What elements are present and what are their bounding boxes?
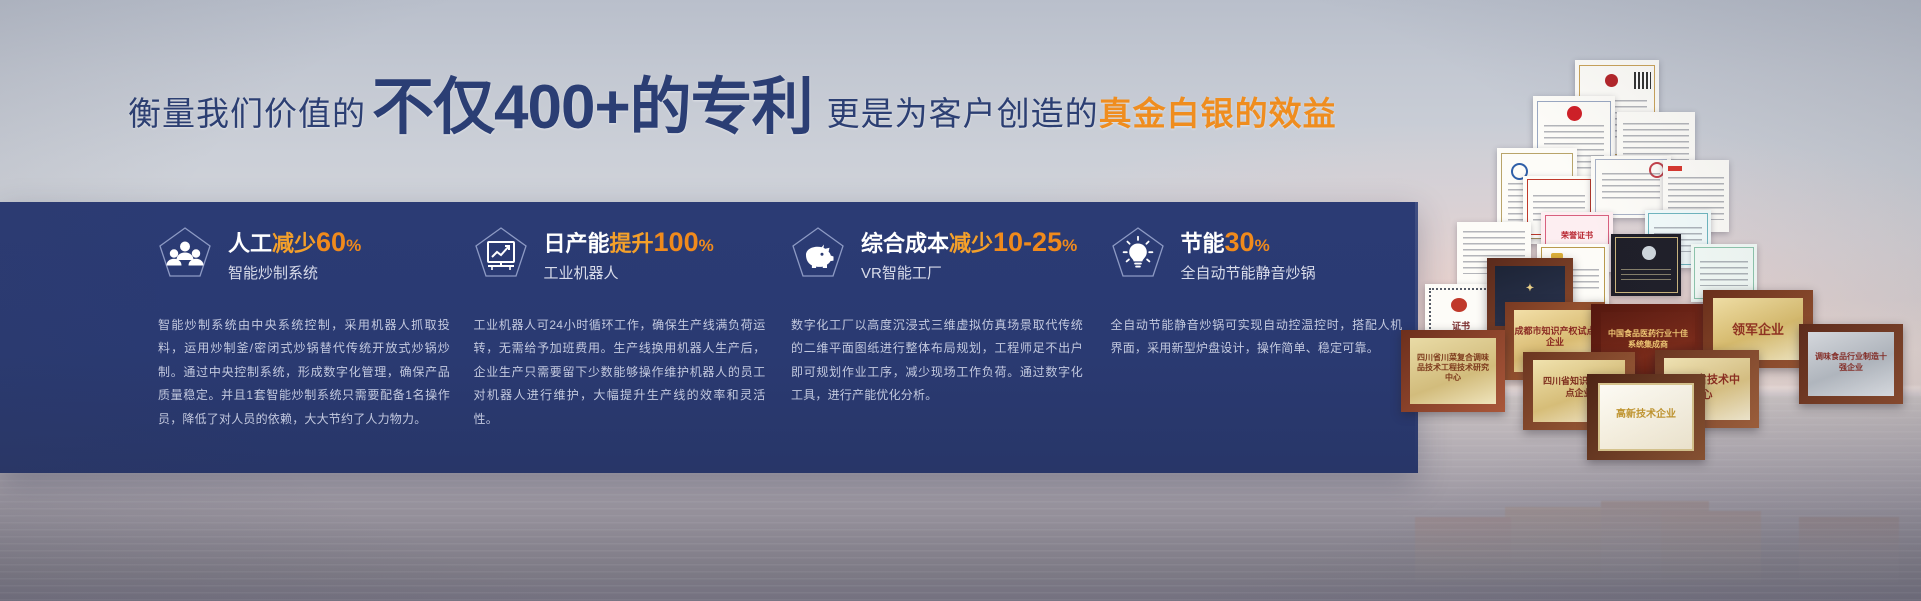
feature-subtitle: 全自动节能静音炒锅 [1181, 265, 1316, 283]
headline-middle: 更是为客户创造的 [827, 87, 1099, 135]
feature-title-highlight: 提升 [610, 231, 654, 256]
plaque-label: 领军企业 [1713, 319, 1803, 338]
feature-title-prefix: 综合成本 [861, 231, 949, 256]
feature-panel: 人工减少60% 智能炒制系统 智能炒制系统由中央系统控制，采用机器人抓取投料，运… [0, 202, 1418, 473]
chart-board-icon [474, 226, 528, 284]
feature-subtitle: VR智能工厂 [861, 265, 1077, 283]
feature-title: 人工减少60% [228, 227, 361, 259]
feature-title-prefix: 人工 [228, 231, 272, 256]
feature-list: 人工减少60% 智能炒制系统 智能炒制系统由中央系统控制，采用机器人抓取投料，运… [0, 202, 1418, 473]
plaque-label: 调味食品行业制造十强企业 [1808, 351, 1893, 373]
feature-titles: 日产能提升100% 工业机器人 [544, 227, 714, 283]
feature-title-highlight: 减少 [949, 231, 993, 256]
feature-item-cost: 综合成本减少10-25% VR智能工厂 数字化工厂以高度沉浸式三维虚拟仿真场景取… [773, 202, 1099, 473]
feature-title-unit: % [699, 236, 714, 255]
feature-title-prefix: 节能 [1181, 231, 1225, 256]
feature-title-unit: % [1062, 236, 1077, 255]
feature-title-prefix: 日产能 [544, 231, 610, 256]
piggy-bank-icon [791, 226, 845, 284]
feature-titles: 节能30% 全自动节能静音炒锅 [1181, 227, 1316, 283]
feature-title: 综合成本减少10-25% [861, 227, 1077, 259]
feature-header: 人工减少60% 智能炒制系统 [158, 218, 466, 292]
feature-title-number: 10-25 [993, 227, 1062, 257]
feature-title-number: 30 [1225, 227, 1255, 257]
feature-titles: 人工减少60% 智能炒制系统 [228, 227, 361, 283]
headline-lead: 衡量我们价值的 [128, 87, 366, 135]
certificate-paper [1591, 156, 1671, 218]
feature-title: 节能30% [1181, 227, 1316, 259]
feature-title: 日产能提升100% [544, 227, 714, 259]
headline-emphasis: 不仅400+的专利 [372, 77, 813, 139]
feature-subtitle: 工业机器人 [544, 265, 714, 283]
plaque-label: 成都市知识产权试点企业 [1514, 326, 1596, 348]
feature-title-number: 60 [316, 227, 346, 257]
feature-body: 工业机器人可24小时循环工作，确保生产线满负荷运转，无需给予加班费用。生产线换用… [474, 314, 766, 431]
award-plaque: 高新技术企业 [1587, 374, 1705, 460]
headline-accent: 真金白银的效益 [1099, 87, 1337, 135]
feature-subtitle: 智能炒制系统 [228, 265, 361, 283]
plaque-label: 荣誉证书 [1541, 230, 1613, 241]
feature-body: 数字化工厂以高度沉浸式三维虚拟仿真场景取代传统的二维平面图纸进行整体布局规划，工… [791, 314, 1083, 408]
plaque-label: 高新技术企业 [1600, 405, 1693, 420]
feature-header: 节能30% 全自动节能静音炒锅 [1111, 218, 1419, 292]
certificate-paper [1611, 234, 1681, 296]
feature-title-unit: % [1255, 236, 1270, 255]
plaque-label: 四川省川菜复合调味品技术工程技术研究中心 [1410, 353, 1495, 384]
feature-body: 全自动节能静音炒锅可实现自动控温控时，搭配人机界面，采用新型炉盘设计，操作简单、… [1111, 314, 1403, 361]
feature-header: 日产能提升100% 工业机器人 [474, 218, 782, 292]
award-plaque: 调味食品行业制造十强企业 [1799, 324, 1903, 404]
feature-item-energy: 节能30% 全自动节能静音炒锅 全自动节能静音炒锅可实现自动控温控时，搭配人机界… [1093, 202, 1419, 473]
people-group-icon [158, 226, 212, 284]
banner-stage: 衡量我们价值的 不仅400+的专利 更是为客户创造的 真金白银的效益 [0, 0, 1921, 601]
page-title: 衡量我们价值的 不仅400+的专利 更是为客户创造的 真金白银的效益 [128, 74, 1337, 144]
lightbulb-icon [1111, 226, 1165, 284]
feature-title-highlight: 减少 [272, 231, 316, 256]
certificate-stack: 荣誉证书 证书 ✦ [1405, 52, 1921, 452]
feature-body: 智能炒制系统由中央系统控制，采用机器人抓取投料，运用炒制釜/密闭式炒锅替代传统开… [158, 314, 450, 431]
feature-item-capacity: 日产能提升100% 工业机器人 工业机器人可24小时循环工作，确保生产线满负荷运… [456, 202, 782, 473]
feature-title-unit: % [346, 236, 361, 255]
feature-title-number: 100 [654, 227, 699, 257]
feature-header: 综合成本减少10-25% VR智能工厂 [791, 218, 1099, 292]
feature-titles: 综合成本减少10-25% VR智能工厂 [861, 227, 1077, 283]
certificate-reflection [1405, 452, 1921, 587]
plaque-label: 中国食品医药行业十佳系统集成商 [1601, 328, 1695, 350]
award-plaque: 四川省川菜复合调味品技术工程技术研究中心 [1401, 330, 1505, 412]
feature-item-labor: 人工减少60% 智能炒制系统 智能炒制系统由中央系统控制，采用机器人抓取投料，运… [140, 202, 466, 473]
